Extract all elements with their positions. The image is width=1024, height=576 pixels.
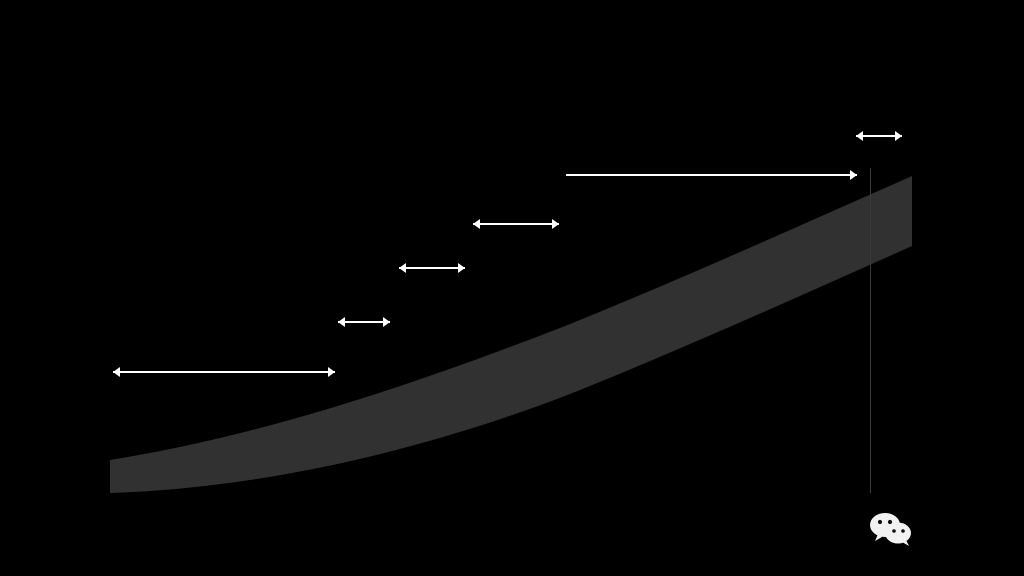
gridline-2025-inner [870, 168, 871, 493]
trend-band [110, 168, 912, 493]
era-arrow-electromechanical [113, 367, 335, 377]
era-arrow-solid-state-relay [338, 317, 390, 327]
era-arrow-transistor [473, 219, 559, 229]
era-arrow-vacuum-tube [399, 263, 465, 273]
chart-plot-area [110, 168, 912, 493]
slide-root [0, 0, 1024, 576]
wechat-logo-icon [868, 510, 916, 550]
era-arrow-dna-computing [856, 131, 902, 141]
era-arrow-integrated-circuit [566, 170, 857, 180]
watermark [868, 510, 1018, 558]
trend-band-shape [110, 168, 912, 493]
